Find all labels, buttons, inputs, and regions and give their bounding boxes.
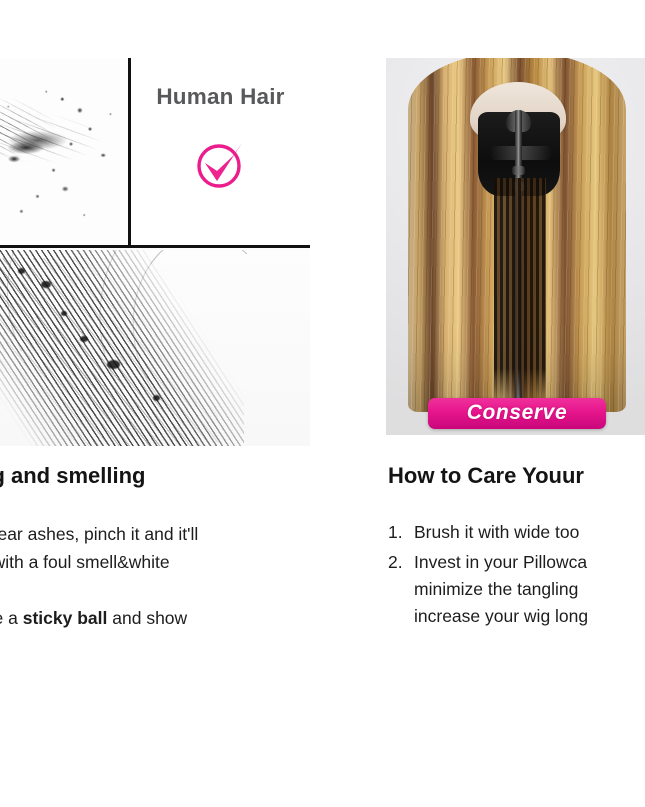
product-detail-page: Human Hair <box>0 0 645 807</box>
left-column-heading: ng and smelling <box>0 463 330 489</box>
list-item: 2. Invest in your Pillowca minimize the … <box>388 549 645 630</box>
ashes-texture <box>0 58 128 245</box>
human-hair-label-cell: Human Hair <box>131 58 310 245</box>
text-segment: and show <box>107 608 187 628</box>
text-line: Invest in your Pillowca <box>414 549 645 576</box>
conserve-badge: Conserve <box>428 398 606 429</box>
text-line: increase your wig long <box>414 603 645 630</box>
text-line: minimize the tangling <box>414 576 645 603</box>
text-line: ppear ashes, pinch it and it'll <box>0 521 330 549</box>
text-line: n with a foul smell&white <box>0 549 330 577</box>
conserve-badge-label: Conserve <box>442 402 592 424</box>
synthetic-strands-texture <box>0 250 310 446</box>
list-marker: 1. <box>388 519 403 546</box>
left-column-body: ppear ashes, pinch it and it'll n with a… <box>0 521 330 632</box>
left-text-column: ng and smelling ppear ashes, pinch it an… <box>0 463 330 632</box>
list-item: 1. Brush it with wide too <box>388 519 645 546</box>
comparison-vertical-divider <box>128 58 131 248</box>
paragraph: ppear ashes, pinch it and it'll n with a… <box>0 521 330 576</box>
human-hair-label: Human Hair <box>131 86 310 109</box>
wig-product-image: Conserve <box>386 58 645 435</box>
burnt-human-hair-ashes-photo <box>0 58 128 245</box>
text-line: -be a sticky ball and show <box>0 605 330 633</box>
wig-front-strands <box>494 178 546 410</box>
comparison-horizontal-divider <box>0 245 310 248</box>
right-column-heading: How to Care Youur <box>388 463 645 489</box>
right-text-column: How to Care Youur 1. Brush it with wide … <box>388 463 645 632</box>
list-marker: 2. <box>388 549 403 576</box>
care-instructions-list: 1. Brush it with wide too 2. Invest in y… <box>388 519 645 630</box>
burn-test-comparison-image: Human Hair <box>0 58 310 446</box>
text-emphasis: sticky ball <box>23 608 108 628</box>
burnt-synthetic-hair-strands-photo <box>0 250 310 446</box>
text-segment: -be a <box>0 608 23 628</box>
pink-check-circle-icon <box>192 134 250 192</box>
text-line: Brush it with wide too <box>414 519 645 546</box>
paragraph: -be a sticky ball and show <box>0 605 330 633</box>
stand-knob <box>512 166 525 175</box>
